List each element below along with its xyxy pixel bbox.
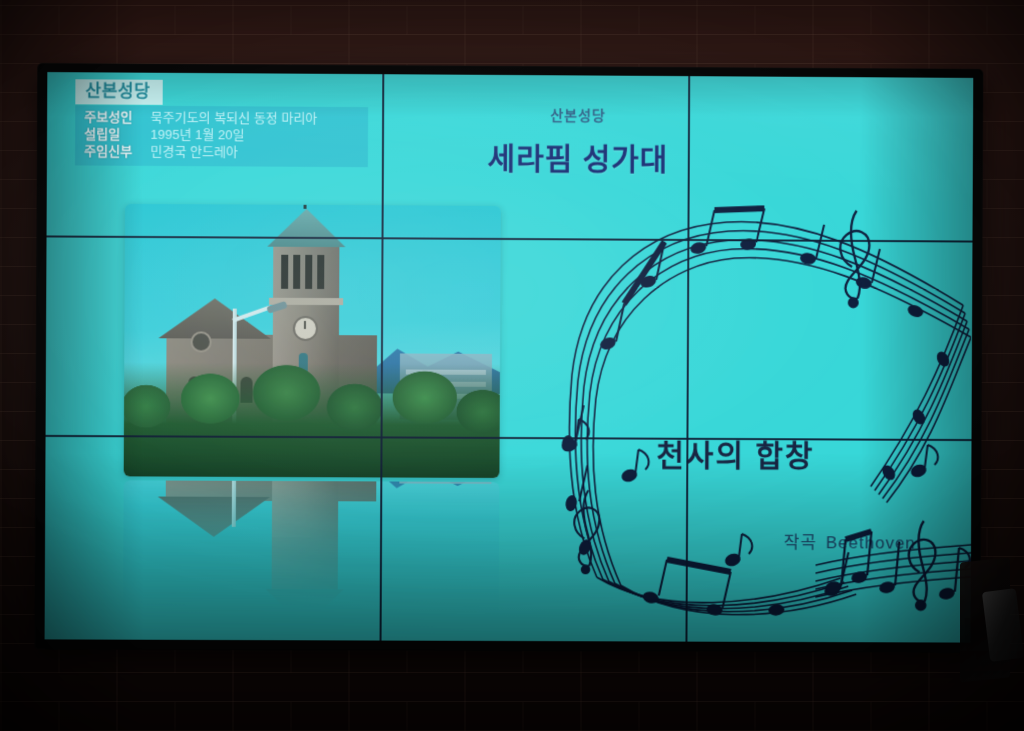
video-wall-display[interactable]: 산본성당 주보성인 묵주기도의 복되신 동정 마리아 설립일 1995년 1월 …	[35, 64, 982, 652]
parish-info-box: 산본성당 주보성인 묵주기도의 복되신 동정 마리아 설립일 1995년 1월 …	[75, 79, 366, 166]
info-row: 주임신부 민경국 안드레아	[84, 143, 360, 162]
church-photo-reflection	[123, 480, 499, 632]
church-photo	[124, 204, 501, 478]
choir-title: 세라핌 성가대	[428, 134, 728, 180]
info-row-value: 민경국 안드레아	[150, 143, 238, 161]
info-row-key: 설립일	[84, 126, 150, 144]
parish-info-rows: 주보성인 묵주기도의 복되신 동정 마리아 설립일 1995년 1월 20일 주…	[75, 105, 368, 166]
parish-name-eyebrow: 산본성당	[428, 104, 728, 126]
info-row: 주보성인 묵주기도의 복되신 동정 마리아	[84, 108, 360, 127]
presentation-slide: 산본성당 주보성인 묵주기도의 복되신 동정 마리아 설립일 1995년 1월 …	[45, 72, 974, 643]
info-row-value: 묵주기도의 복되신 동정 마리아	[150, 109, 317, 127]
info-row-value: 1995년 1월 20일	[150, 126, 244, 144]
info-row-key: 주보성인	[84, 108, 150, 126]
treble-clef-staff-icon	[815, 491, 973, 631]
info-row: 설립일 1995년 1월 20일	[84, 126, 360, 145]
parish-info-title: 산본성당	[75, 79, 162, 105]
headline-block: 산본성당 세라핌 성가대	[428, 104, 728, 179]
room-scene: 산본성당 주보성인 묵주기도의 복되신 동정 마리아 설립일 1995년 1월 …	[0, 0, 1024, 731]
church-photo-block	[123, 204, 501, 632]
display-screen[interactable]: 산본성당 주보성인 묵주기도의 복되신 동정 마리아 설립일 1995년 1월 …	[45, 72, 974, 643]
info-row-key: 주임신부	[84, 143, 150, 161]
